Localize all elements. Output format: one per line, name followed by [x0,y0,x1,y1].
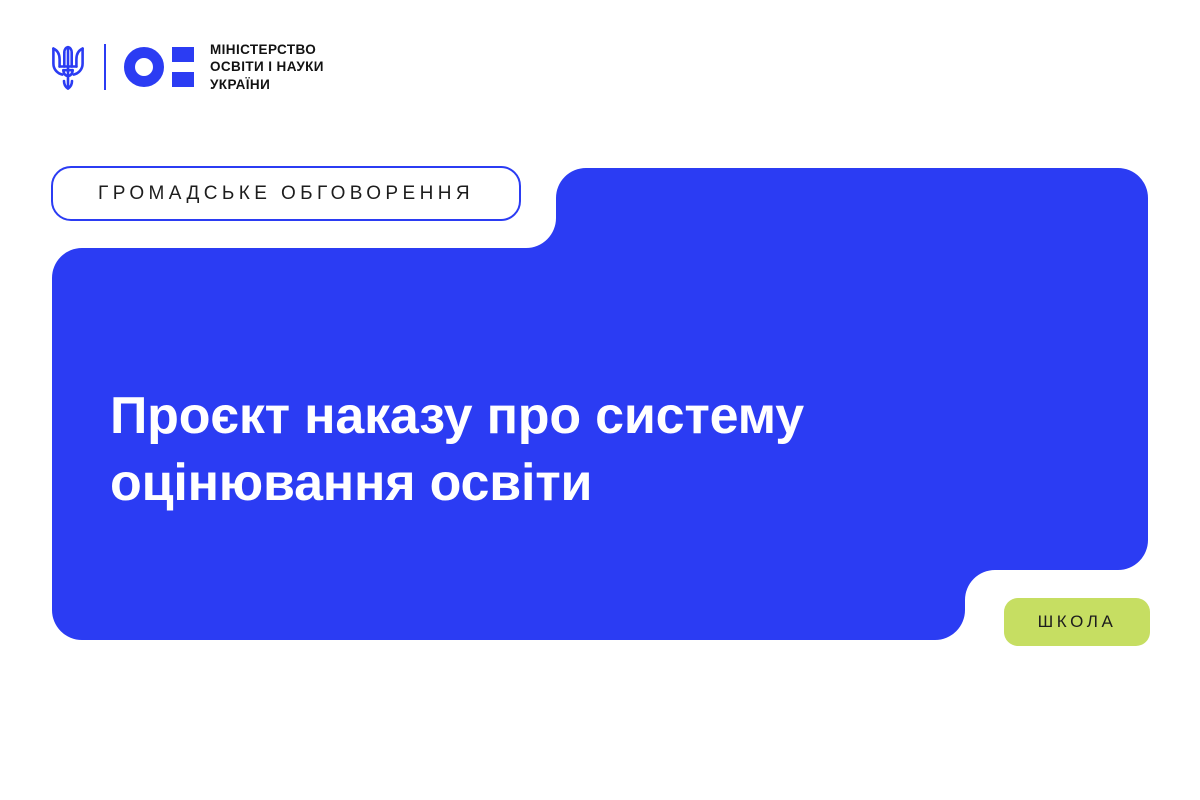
public-discussion-badge[interactable]: ГРОМАДСЬКЕ ОБГОВОРЕННЯ [51,166,521,221]
mon-o-equals-mark-icon [124,47,194,87]
mon-equals-bar-bottom [172,72,194,87]
mon-ring-shape [124,47,164,87]
ministry-logo-lockup[interactable]: МІНІСТЕРСТВО ОСВІТИ І НАУКИ УКРАЇНИ [50,36,324,98]
ukrainian-trident-icon [50,43,86,91]
school-category-tag[interactable]: ШКОЛА [1004,598,1150,646]
logo-divider [104,44,106,90]
page-title: Проєкт наказу про систему оцінювання осв… [110,383,910,518]
mon-equals-shape [172,47,194,87]
ministry-name-text: МІНІСТЕРСТВО ОСВІТИ І НАУКИ УКРАЇНИ [210,41,324,93]
mon-equals-bar-top [172,47,194,62]
slide-canvas: МІНІСТЕРСТВО ОСВІТИ І НАУКИ УКРАЇНИ ГРОМ… [0,0,1200,800]
